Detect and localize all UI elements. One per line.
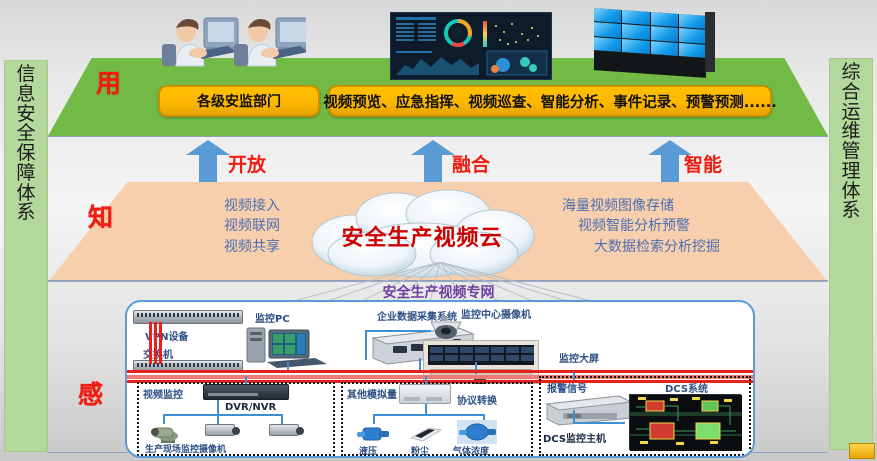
sensor-dust	[407, 422, 443, 444]
wire-blue	[281, 414, 283, 424]
sidebar-left-char: 障	[16, 164, 35, 184]
label-protocol-conversion: 协议转换	[457, 392, 497, 407]
arrow-up-fusion	[411, 140, 455, 182]
cloud-title: 安全生产视频云	[288, 220, 556, 252]
wire-blue	[217, 400, 219, 424]
wire-blue	[373, 414, 485, 416]
device-dvr-nvr	[203, 384, 289, 400]
video-wall-image	[592, 10, 718, 76]
label-dcs-host: DCS监控主机	[543, 430, 606, 445]
trunk-red	[159, 322, 162, 364]
label-alarm-signal: 报警信号	[547, 380, 587, 395]
layer-label-sense: 感	[78, 375, 103, 411]
sidebar-left-char: 信	[16, 65, 35, 85]
cloud-right-item: 海量视频图像存储	[562, 196, 792, 216]
cloud-right-item: 大数据检索分析挖掘	[594, 237, 792, 257]
label-dvr-nvr: DVR/NVR	[225, 402, 276, 413]
group-title-analog: 其他模拟量	[347, 386, 397, 401]
device-dcs-hmi-screen	[629, 394, 741, 450]
wire-blue	[365, 330, 367, 360]
red-bus-line	[127, 370, 755, 373]
diagram-canvas: 信 息 安 全 保 障 体 系 综 合 运 维 管 理 体 系 用 知 感	[0, 0, 877, 461]
arrow-label-open: 开放	[228, 150, 266, 177]
label-site-cameras: 生产现场监控摄像机	[145, 442, 226, 455]
label-big-screen: 监控大屏	[559, 350, 599, 365]
cloud-left-item: 视频联网	[108, 216, 280, 236]
device-ptz-camera	[149, 422, 185, 444]
trunk-red	[154, 322, 157, 364]
arrow-shaft	[424, 152, 442, 182]
private-network-label: 安全生产视频专网	[0, 282, 877, 302]
label-monitor-pc: 监控PC	[255, 310, 290, 325]
sidebar-left-char: 系	[16, 203, 35, 223]
sidebar-left-information-security: 信 息 安 全 保 障 体 系	[4, 60, 48, 452]
device-box-camera	[205, 424, 235, 436]
layer-divider-use	[48, 136, 828, 137]
rack-leds-icon	[137, 313, 239, 317]
functions-box[interactable]: 视频预览、应急指挥、视频巡查、智能分析、事件记录、预警预测......	[328, 85, 772, 117]
arrow-label-intelligent: 智能	[684, 150, 722, 177]
sidebar-right-operations-management: 综 合 运 维 管 理 体 系	[829, 58, 873, 450]
label-center-camera: 监控中心摄像机	[461, 306, 531, 321]
sidebar-right-char: 系	[841, 201, 860, 221]
wire-blue	[573, 422, 625, 424]
arrow-shaft	[199, 152, 217, 182]
label-gas-concentration: 气体浓度	[453, 444, 489, 457]
sidebar-right-char: 合	[841, 83, 860, 103]
cloud-left-item: 视频接入	[130, 196, 280, 216]
sensor-hydraulic	[357, 422, 391, 444]
analytics-dashboard-image	[390, 12, 552, 80]
label-dust: 粉尘	[411, 444, 429, 457]
wire-blue	[365, 330, 431, 332]
sidebar-right-char: 理	[841, 162, 860, 182]
arrow-up-open	[186, 140, 230, 182]
device-box-camera	[269, 424, 299, 436]
sidebar-right-char: 管	[841, 142, 860, 162]
label-hydraulic: 液压	[359, 444, 377, 457]
wire-blue	[425, 404, 427, 416]
device-dome-camera	[427, 316, 467, 342]
layer-label-use: 用	[96, 64, 121, 100]
label-switch: 交换机	[143, 346, 173, 361]
wire-blue	[425, 376, 427, 384]
rack-leds-icon	[137, 363, 239, 367]
cloud-capabilities-right: 海量视频图像存储 视频智能分析预警 大数据检索分析挖掘	[562, 196, 792, 257]
sidebar-left-char: 息	[16, 85, 35, 105]
arrow-shaft	[661, 152, 679, 182]
sidebar-right-char: 综	[841, 63, 860, 83]
cloud-right-item: 视频智能分析预警	[578, 216, 792, 236]
wire-blue	[573, 372, 575, 380]
video-wall-side	[705, 12, 715, 72]
cloud-capabilities-left: 视频接入 视频联网 视频共享	[130, 196, 280, 257]
trunk-red	[149, 322, 152, 364]
group-title-video: 视频监控	[143, 386, 183, 401]
cloud-left-item: 视频共享	[86, 237, 280, 257]
wire-blue	[245, 376, 247, 384]
label-dcs-system: DCS系统	[665, 380, 708, 395]
sensor-gas-concentration	[457, 420, 497, 444]
infrastructure-panel: VPN设备 交换机 监控PC 企业数据采集系统	[125, 300, 755, 458]
operators-clipart	[146, 8, 306, 70]
arrow-label-fusion: 融合	[452, 150, 490, 177]
department-box[interactable]: 各级安监部门	[158, 85, 320, 117]
wire-blue	[163, 414, 283, 416]
device-protocol-converter	[399, 384, 451, 404]
corner-marker	[849, 443, 875, 459]
sidebar-left-char: 保	[16, 144, 35, 164]
